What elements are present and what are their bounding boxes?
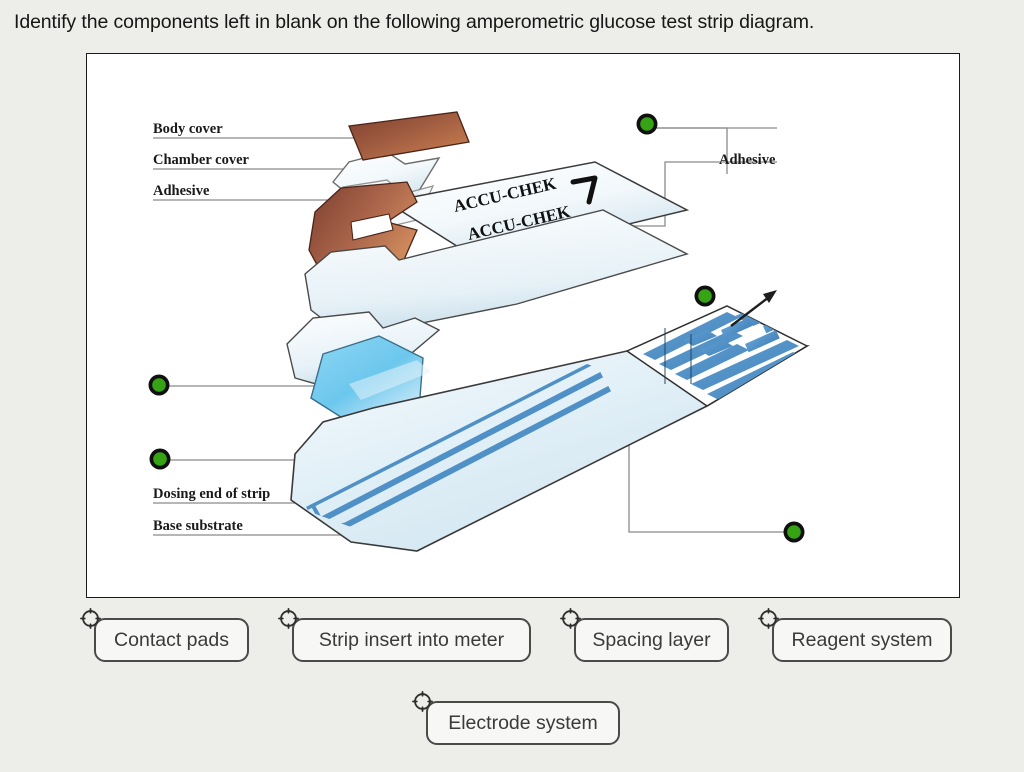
label-body-cover: Body cover [153, 121, 223, 137]
blank-marker-3[interactable] [149, 375, 170, 396]
answer-token-label: Spacing layer [592, 629, 710, 652]
blank-marker-4[interactable] [150, 449, 171, 470]
label-base-substrate: Base substrate [153, 518, 243, 534]
blank-marker-1[interactable] [637, 114, 658, 135]
drag-handle-icon[interactable] [80, 608, 101, 629]
answer-token-reagent-system[interactable]: Reagent system [772, 618, 952, 662]
blank-marker-2[interactable] [695, 286, 716, 307]
diagram-frame: ACCU-CHEK ACCU-CHEK ACCU-CHEK [86, 53, 960, 598]
blank-marker-5[interactable] [784, 522, 805, 543]
label-dosing-end: Dosing end of strip [153, 486, 270, 502]
answer-token-label: Contact pads [114, 629, 229, 652]
answer-token-strip-insert-into-meter[interactable]: Strip insert into meter [292, 618, 531, 662]
answer-token-spacing-layer[interactable]: Spacing layer [574, 618, 729, 662]
exploded-strip-diagram: ACCU-CHEK ACCU-CHEK ACCU-CHEK [87, 54, 960, 598]
drag-handle-icon[interactable] [758, 608, 779, 629]
label-adhesive-left: Adhesive [153, 183, 210, 199]
layer-adhesive-top [349, 112, 469, 160]
drag-handle-icon[interactable] [412, 691, 433, 712]
answer-token-contact-pads[interactable]: Contact pads [94, 618, 249, 662]
answer-token-label: Strip insert into meter [319, 629, 504, 652]
drag-handle-icon[interactable] [560, 608, 581, 629]
answer-token-label: Reagent system [792, 629, 933, 652]
label-adhesive-right: Adhesive [719, 152, 776, 168]
answer-token-label: Electrode system [448, 712, 598, 735]
question-prompt: Identify the components left in blank on… [14, 11, 814, 34]
drag-handle-icon[interactable] [278, 608, 299, 629]
answer-token-electrode-system[interactable]: Electrode system [426, 701, 620, 745]
label-chamber-cover: Chamber cover [153, 152, 250, 168]
